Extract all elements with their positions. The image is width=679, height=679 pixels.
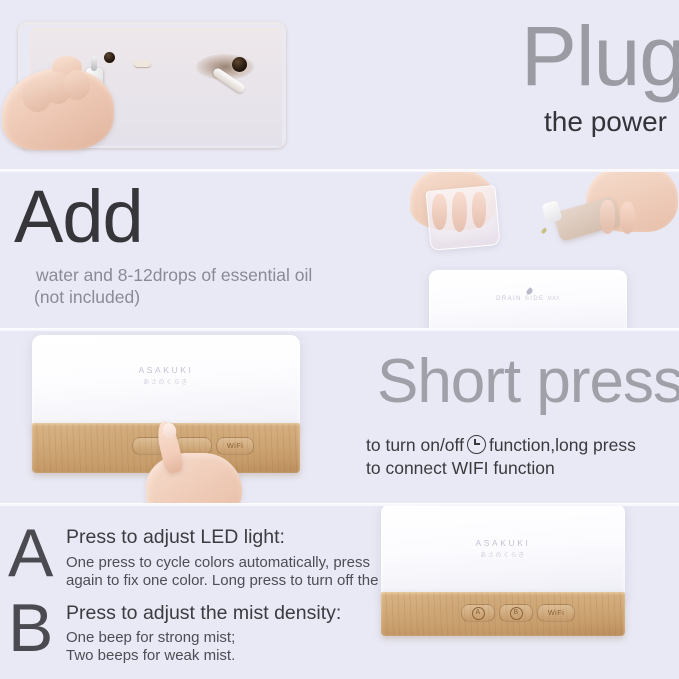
panel-add-water-and-oil: Add water and 8-12drops of essential oil…: [0, 172, 679, 328]
button-b-line1: One beep for strong mist;: [66, 629, 235, 646]
power-adapter-pin: [91, 56, 97, 71]
brand-logo: ASAKUKI あさのくらき: [381, 538, 625, 559]
panel-plug-the-power: Plug the power: [0, 0, 679, 169]
add-instruction-line2: (not included): [34, 286, 140, 309]
device-button-wifi[interactable]: WiFi: [216, 437, 254, 455]
label-letter-b: B: [8, 594, 53, 662]
brand-name-japanese: あさのくらき: [32, 377, 300, 386]
tank-label: DRAIN SIDE: [496, 296, 544, 302]
tank-max-marking: DRAIN SIDE MAX: [491, 296, 565, 302]
oil-bottle-cap: [542, 200, 563, 224]
add-headline: Add: [14, 180, 143, 254]
button-b-line2: Two beeps for weak mist.: [66, 647, 235, 664]
short-press-line1-after: function,long press: [489, 435, 636, 455]
device-button-a[interactable]: A: [461, 604, 495, 622]
device-button-b[interactable]: B: [499, 604, 533, 622]
panel-divider: [0, 328, 679, 331]
brand-name-japanese: あさのくらき: [381, 550, 625, 559]
finger: [472, 192, 486, 228]
brand-name: ASAKUKI: [475, 538, 530, 548]
brand-name: ASAKUKI: [138, 365, 193, 375]
add-instruction-line1: water and 8-12drops of essential oil: [36, 264, 312, 287]
clock-icon: [467, 435, 486, 454]
plug-subheadline: the power: [544, 104, 667, 139]
short-press-line1-before: to turn on/off: [366, 435, 464, 455]
plug-headline: Plug: [521, 14, 679, 98]
secondary-hole: [104, 52, 115, 63]
short-press-line2: to connect WIFI function: [366, 458, 555, 480]
finger-knuckle: [64, 70, 90, 100]
button-a-heading: Press to adjust LED light:: [66, 526, 285, 549]
diffuser-body: ASAKUKI あさのくらき: [32, 335, 300, 427]
label-letter-a: A: [8, 519, 53, 587]
diffuser-body: ASAKUKI あさのくらき: [381, 506, 625, 596]
button-a-glyph: A: [472, 607, 485, 620]
panel-short-press: ASAKUKI あさのくらき WiFi Short press to turn …: [0, 331, 679, 503]
panel-divider: [0, 503, 679, 506]
panel-divider: [0, 169, 679, 172]
hand-pressing-button: [146, 453, 242, 503]
brand-logo: ASAKUKI あさのくらき: [32, 365, 300, 386]
button-b-glyph: B: [510, 607, 523, 620]
button-a-line1: One press to cycle colors automatically,…: [66, 554, 370, 571]
short-press-line1: to turn on/offfunction,long press: [366, 435, 636, 457]
instruction-infographic: Plug the power Add water and 8-12drops o…: [0, 0, 679, 679]
diffuser-wood-base: A B WiFi: [381, 592, 625, 636]
button-b-heading: Press to adjust the mist density:: [66, 602, 341, 625]
oil-droplet: [540, 227, 547, 234]
device-button-wifi[interactable]: WiFi: [537, 604, 575, 622]
finger: [600, 200, 615, 234]
panel-button-functions: A Press to adjust LED light: One press t…: [0, 506, 679, 679]
finger: [452, 192, 467, 232]
short-press-headline: Short press: [377, 351, 679, 413]
button-a-line2: again to fix one color. Long press to tu…: [66, 572, 414, 589]
tertiary-hole: [232, 57, 247, 72]
water-drop-icon: [525, 287, 533, 295]
white-slot-marker: [134, 60, 151, 67]
diffuser-water-tank: DRAIN SIDE MAX: [429, 270, 627, 328]
finger: [432, 194, 447, 230]
tank-max-label: MAX: [548, 296, 560, 302]
finger: [620, 202, 635, 234]
